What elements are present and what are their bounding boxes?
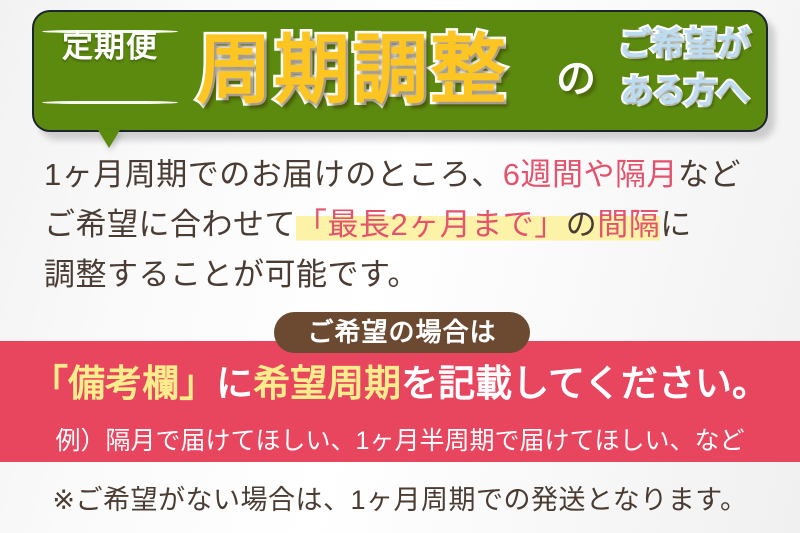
header-target-line2: ある方へ bbox=[600, 67, 768, 114]
body-line2-part1: ご希望に合わせて bbox=[44, 207, 296, 242]
header-title: 周期調整 bbox=[196, 12, 508, 130]
body-line2-highlight-duration: 「最長2ヶ月まで」 bbox=[296, 207, 566, 242]
body-line1-emphasis: 6週間や隔月 bbox=[503, 157, 678, 192]
instruction-field-name: 「備考欄」 bbox=[31, 363, 216, 404]
body-line-1: 1ヶ月周期でのお届けのところ、6週間や隔月など bbox=[44, 150, 774, 200]
request-case-pill-badge: ご希望の場合は bbox=[274, 312, 530, 353]
header-target-line1: ご希望が bbox=[600, 20, 768, 67]
body-line2-particle: の bbox=[566, 207, 598, 242]
promotional-banner: 定期便 周期調整 の ご希望が ある方へ 1ヶ月周期でのお届けのところ、6週間や… bbox=[0, 0, 800, 533]
body-line1-part3: など bbox=[678, 157, 741, 192]
body-line2-highlight-interval: 間隔 bbox=[597, 207, 660, 242]
instruction-headline: 「備考欄」に希望周期を記載してください。 bbox=[0, 360, 800, 408]
header-title-particle: の bbox=[556, 46, 596, 104]
instruction-desired-cycle: 希望周期 bbox=[253, 363, 401, 404]
header-target-audience: ご希望が ある方へ bbox=[600, 20, 768, 114]
body-paragraph: 1ヶ月周期でのお届けのところ、6週間や隔月など ご希望に合わせて「最長2ヶ月まで… bbox=[44, 150, 774, 300]
body-line-3: 調整することが可能です。 bbox=[44, 250, 774, 300]
default-shipping-note: ※ご希望がない場合は、1ヶ月周期での発送となります。 bbox=[0, 478, 800, 517]
instruction-examples: 例）隔月で届けてほしい、1ヶ月半周期で届けてほしい、など bbox=[0, 424, 800, 458]
body-line-2: ご希望に合わせて「最長2ヶ月まで」の間隔に bbox=[44, 200, 774, 250]
instruction-part2: に bbox=[216, 363, 253, 404]
instruction-part4: を記載してください。 bbox=[401, 363, 769, 404]
subscription-badge-label: 定期便 bbox=[40, 26, 180, 68]
body-line1-part1: 1ヶ月周期でのお届けのところ、 bbox=[44, 157, 503, 192]
body-line3-text: 調整することが可能です。 bbox=[44, 257, 419, 292]
body-line2-part5: に bbox=[660, 207, 692, 242]
speech-bubble-tail-icon bbox=[98, 130, 120, 148]
badge-bottom-rule bbox=[42, 101, 178, 104]
